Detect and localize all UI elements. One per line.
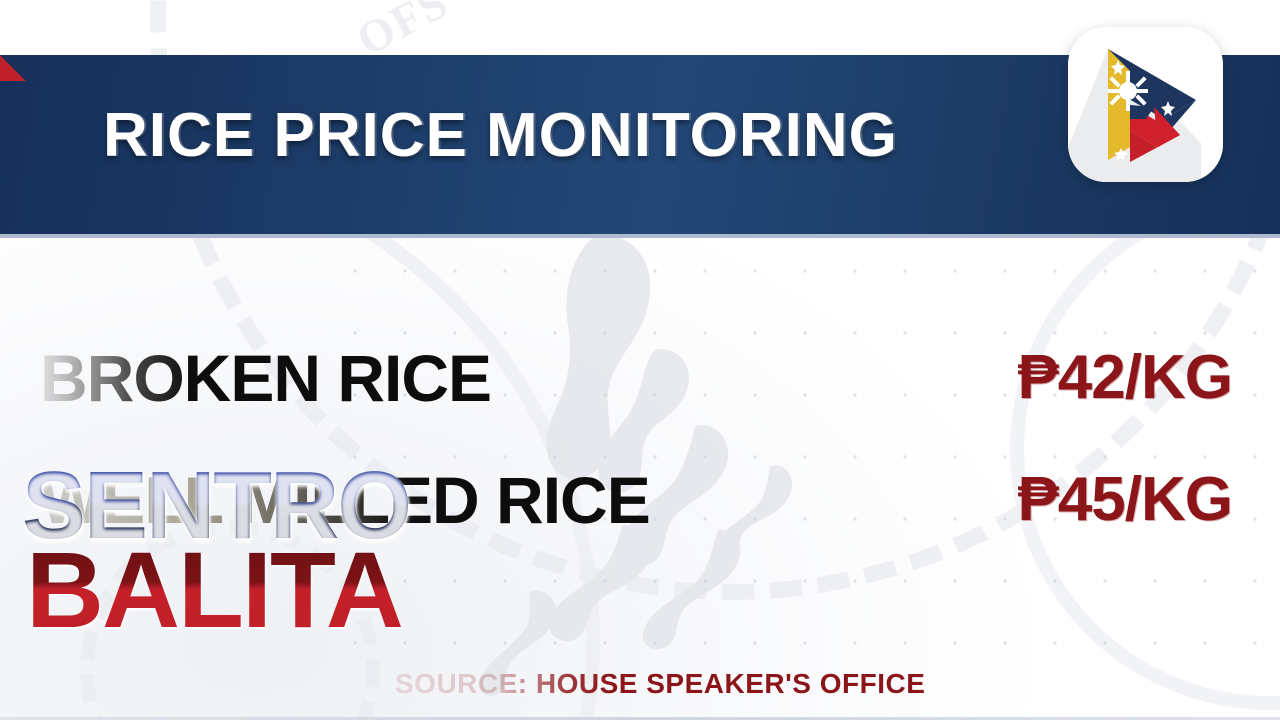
broadcast-graphic: OFS RICE PRICE MONITORING: [0, 0, 1280, 720]
table-row: BROKEN RICE ₱42/KG: [0, 340, 1280, 420]
commodity-price: ₱45/KG: [1017, 464, 1232, 535]
program-logo: SENTRO BALITA: [22, 462, 592, 672]
philippine-flag-play-logo: [1068, 27, 1223, 182]
source-credit: SOURCE: HOUSE SPEAKER'S OFFICE: [395, 668, 925, 700]
header-corner-accent: [0, 55, 26, 81]
program-logo-line-2: BALITA: [26, 540, 592, 639]
commodity-label: BROKEN RICE: [40, 340, 491, 416]
page-title: RICE PRICE MONITORING: [103, 100, 898, 171]
commodity-price: ₱42/KG: [1017, 342, 1232, 413]
